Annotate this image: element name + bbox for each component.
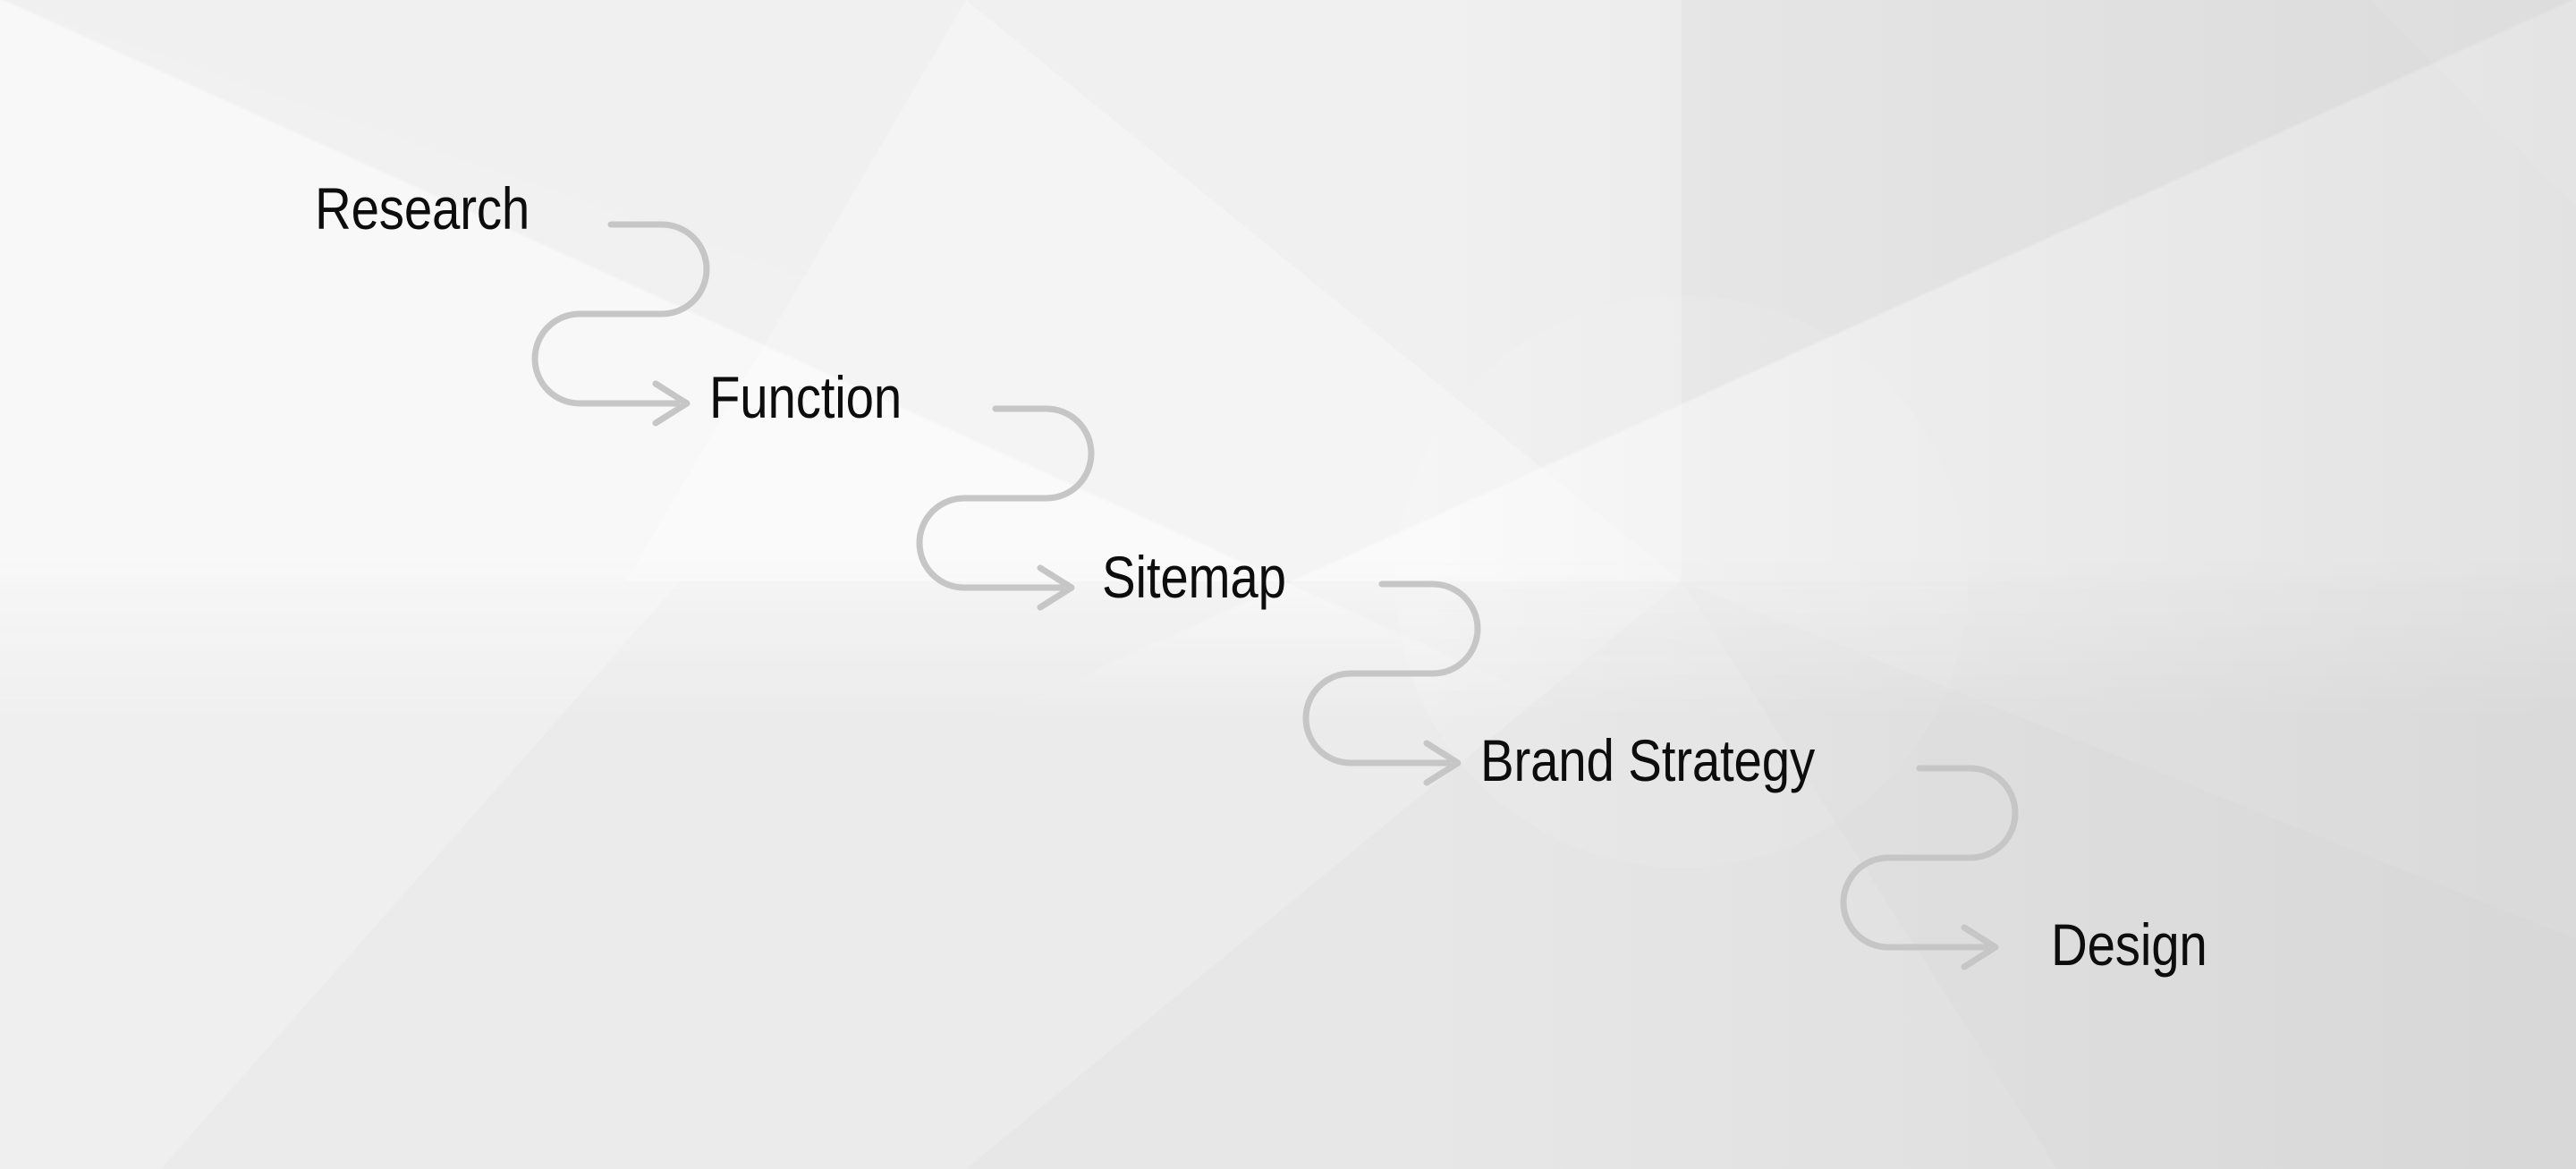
flow-node-function[interactable]: Function <box>709 368 902 427</box>
flow-node-design[interactable]: Design <box>2051 915 2207 974</box>
flow-node-sitemap[interactable]: Sitemap <box>1102 547 1286 606</box>
flow-node-brand-strategy[interactable]: Brand Strategy <box>1480 731 1815 790</box>
flow-node-research[interactable]: Research <box>315 179 530 238</box>
diagram-canvas: Research Function Sitemap Brand Strategy… <box>0 0 2576 1169</box>
